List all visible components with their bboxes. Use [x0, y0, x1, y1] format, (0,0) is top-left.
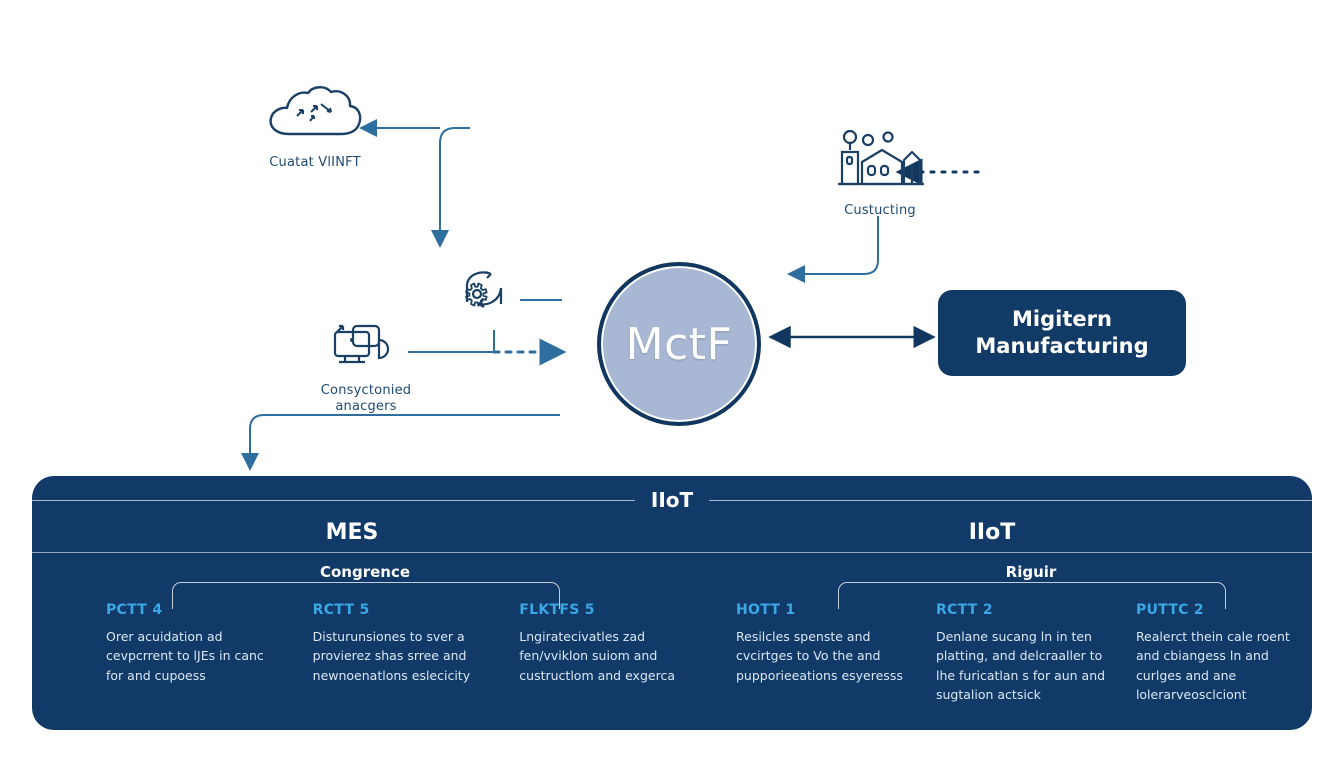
panel-divider [32, 552, 1312, 553]
list-item[interactable]: PCTT 4 Orer acuidation ad cevpcrrent to … [92, 602, 299, 685]
item-body: Resilcles spenste and cvcirtges to Vo th… [736, 627, 908, 685]
item-title: FLKTFS 5 [519, 602, 698, 618]
node-cloud-label: Cuatat VlINFT [269, 155, 360, 171]
node-devices-label: Consyctonied anacgers [310, 383, 422, 416]
item-body: Denlane sucang ln in ten platting, and d… [936, 627, 1108, 705]
manufacturing-line2: Manufacturing [975, 333, 1148, 360]
gear-cycle-icon [457, 266, 511, 325]
diagram-canvas: Cuatat VlINFT Custucting [0, 0, 1344, 768]
list-item[interactable]: HOTT 1 Resilcles spenste and cvcirtges t… [722, 602, 922, 705]
wire-hub-to-panel [250, 415, 560, 468]
item-title: HOTT 1 [736, 602, 908, 618]
factory-icon [836, 128, 924, 195]
list-item[interactable]: RCTT 2 Denlane sucang ln in ten platting… [922, 602, 1122, 705]
hub-label: MctF [626, 319, 733, 370]
panel-title-rule-left [32, 500, 635, 501]
bracket-label-congrence: Congrence [308, 563, 422, 581]
node-factory-label: Custucting [844, 203, 916, 219]
devices-icon [323, 322, 409, 375]
wire-cloud-elbow [440, 128, 470, 245]
node-devices[interactable]: Consyctonied anacgers [310, 322, 422, 416]
list-item[interactable]: PUTTC 2 Realerct thein cale roent and cb… [1122, 602, 1312, 705]
manufacturing-line1: Migitern [975, 306, 1148, 333]
item-title: PUTTC 2 [1136, 602, 1308, 618]
panel-title-row: IIoT [32, 500, 1312, 501]
panel-title: IIoT [635, 488, 709, 512]
item-title: RCTT 5 [313, 602, 492, 618]
item-title: PCTT 4 [106, 602, 285, 618]
panel-title-rule-right [709, 500, 1312, 501]
item-body: Realerct thein cale roent and cbiangess … [1136, 627, 1308, 705]
node-cloud[interactable]: Cuatat VlINFT [250, 82, 380, 171]
column-heading-iiot: IIoT [672, 520, 1312, 545]
item-body: Lngiratecivatles zad fen/vviklon suiom a… [519, 627, 698, 685]
cloud-icon [263, 82, 367, 147]
item-body: Orer acuidation ad cevpcrrent to lJEs in… [106, 627, 285, 685]
list-item[interactable]: FLKTFS 5 Lngiratecivatles zad fen/vviklo… [505, 602, 712, 685]
panel-column-headings: MES IIoT [32, 520, 1312, 545]
bracket-label-riguir: Riguir [994, 563, 1069, 581]
wire-factory-to-hub [790, 216, 878, 274]
item-title: RCTT 2 [936, 602, 1108, 618]
item-list-right: HOTT 1 Resilcles spenste and cvcirtges t… [722, 602, 1312, 705]
item-body: Disturunsiones to sver a provierez shas … [313, 627, 492, 685]
column-heading-mes: MES [32, 520, 672, 545]
central-hub[interactable]: MctF [597, 262, 761, 426]
manufacturing-box[interactable]: Migitern Manufacturing [938, 290, 1186, 376]
item-list-left: PCTT 4 Orer acuidation ad cevpcrrent to … [92, 602, 712, 685]
node-factory[interactable]: Custucting [818, 128, 942, 219]
node-gear-cycle[interactable] [455, 266, 513, 325]
iiot-panel: IIoT MES IIoT Congrence Riguir PCTT 4 Or… [32, 476, 1312, 730]
list-item[interactable]: RCTT 5 Disturunsiones to sver a proviere… [299, 602, 506, 685]
